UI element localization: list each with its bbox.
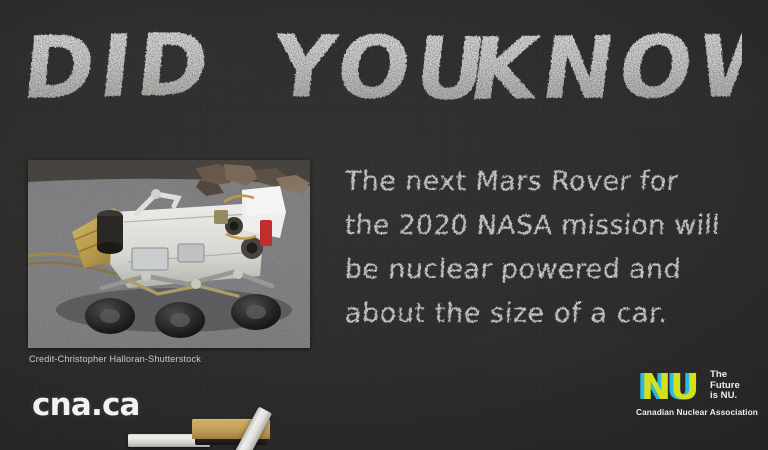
logo-tagline: The Future is NU. (710, 368, 740, 402)
chalkboard-poster: DID YOU KNOW? (0, 0, 768, 450)
tagline-line-3: is NU. (710, 391, 740, 402)
body-line-4: about the size of a car. (344, 292, 748, 336)
nu-logomark: NU NU (636, 368, 704, 404)
body-line-1: The next Mars Rover for (344, 160, 748, 204)
divider (26, 132, 762, 136)
headline-word-1: DID (26, 18, 218, 118)
body-line-2: the 2020 NASA mission will (344, 204, 748, 248)
photo-credit: Credit-Christopher Halloran-Shutterstock (29, 354, 201, 364)
cna-logo[interactable]: NU NU The Future is NU. Canadian Nuclear… (636, 368, 758, 420)
headline-word-2: YOU (266, 18, 496, 118)
svg-text:The next Mars Rover for: The next Mars Rover for (343, 166, 679, 197)
body-text: The next Mars Rover for the 2020 NASA mi… (344, 160, 748, 336)
body-line-3: be nuclear powered and (344, 248, 748, 292)
tagline-line-1: The (710, 370, 740, 381)
svg-text:the 2020 NASA mission will: the 2020 NASA mission will (344, 210, 720, 241)
svg-text:about the size of a car.: about the size of a car. (344, 298, 668, 329)
headline-word-3: KNOW? (464, 18, 742, 118)
rover-photo (28, 160, 310, 348)
svg-text:be nuclear powered and: be nuclear powered and (344, 254, 682, 285)
organization-name: Canadian Nuclear Association (636, 407, 758, 417)
website-url[interactable]: cna.ca (32, 387, 140, 423)
page-title: DID YOU KNOW? (26, 18, 742, 118)
nu-face: NU (641, 368, 698, 404)
